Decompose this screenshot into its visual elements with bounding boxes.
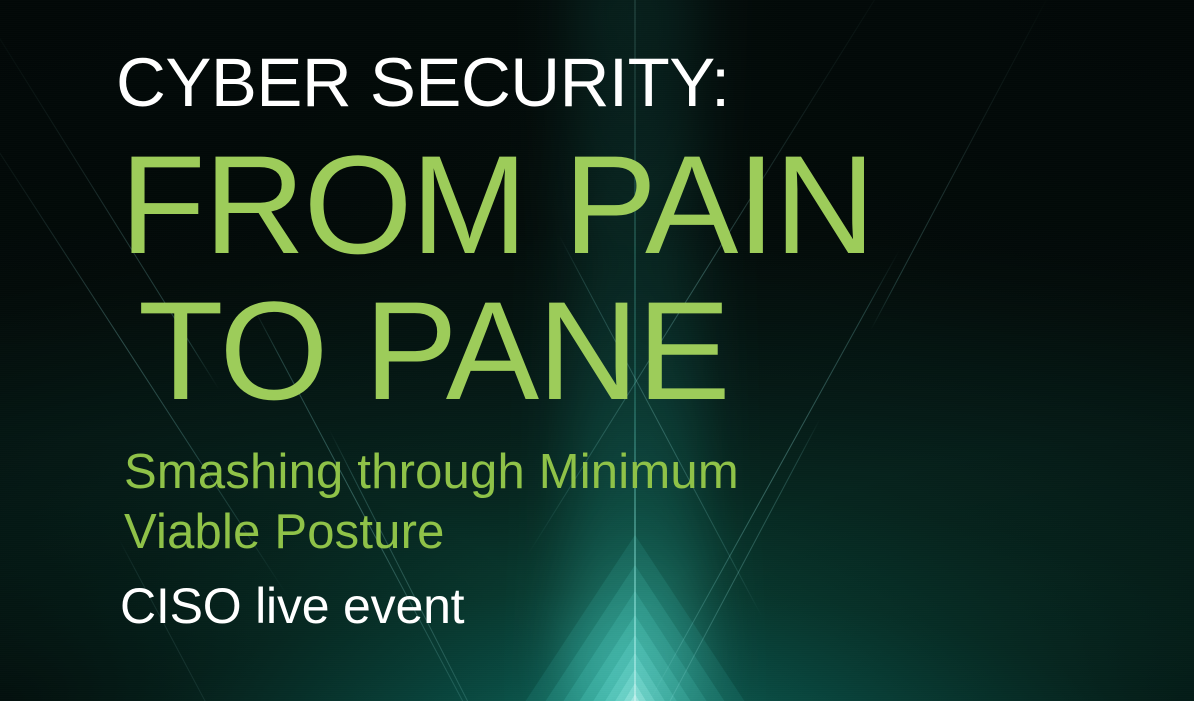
headline-line-2: TO PANE (120, 278, 874, 424)
title-card-slide: CYBER SECURITY: FROM PAIN TO PANE Smashi… (0, 0, 1194, 701)
headline: FROM PAIN TO PANE (120, 132, 874, 424)
headline-line-1: FROM PAIN (120, 132, 874, 278)
subtitle: Smashing through Minimum Viable Posture (124, 442, 739, 562)
eyebrow-text: CYBER SECURITY: (116, 48, 730, 117)
title-block: CYBER SECURITY: FROM PAIN TO PANE Smashi… (0, 0, 1194, 701)
subtitle-line-2: Viable Posture (124, 502, 739, 562)
event-type-label: CISO live event (120, 581, 464, 631)
subtitle-line-1: Smashing through Minimum (124, 442, 739, 502)
